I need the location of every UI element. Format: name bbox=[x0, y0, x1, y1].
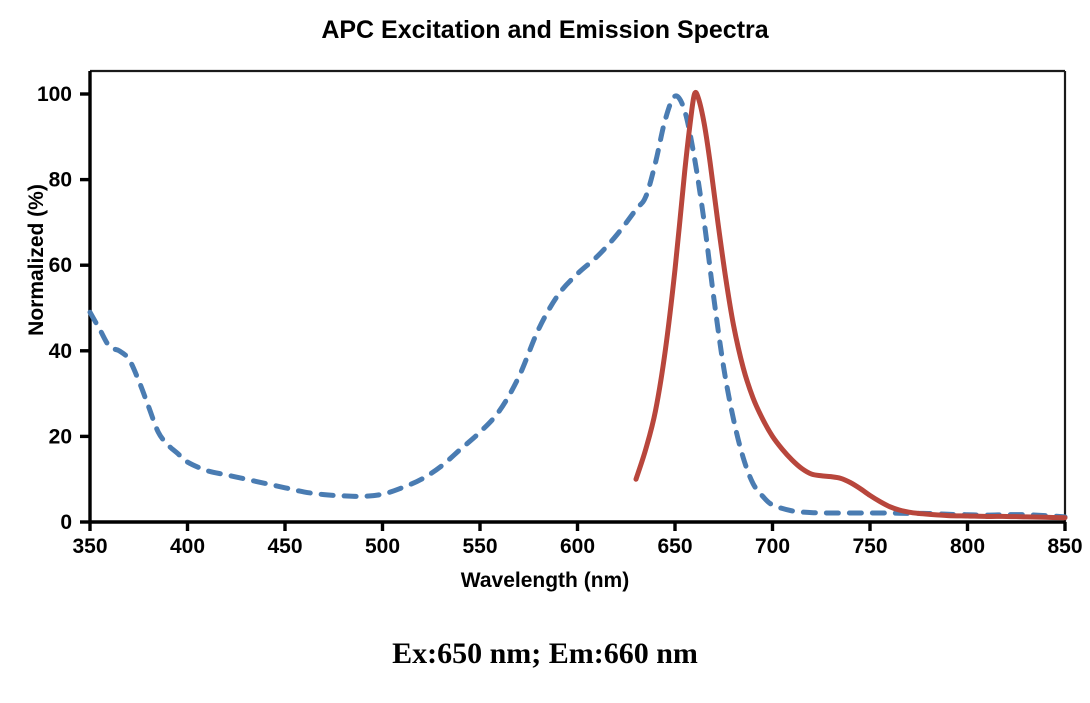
spectra-figure: APC Excitation and Emission Spectra 3504… bbox=[0, 0, 1090, 703]
emission-curve bbox=[636, 92, 1065, 517]
y-tick-label: 0 bbox=[60, 511, 72, 534]
x-tick-label: 500 bbox=[365, 535, 400, 558]
x-tick-label: 650 bbox=[657, 535, 692, 558]
axes-group bbox=[90, 71, 1065, 522]
y-tick-label: 60 bbox=[49, 254, 72, 277]
x-tick-label: 350 bbox=[72, 535, 107, 558]
x-ticks-group: 350400450500550600650700750800850 bbox=[72, 522, 1082, 558]
series-group bbox=[90, 92, 1065, 517]
x-tick-label: 600 bbox=[560, 535, 595, 558]
excitation-curve bbox=[90, 96, 1065, 517]
y-tick-label: 20 bbox=[49, 425, 72, 448]
x-tick-label: 550 bbox=[462, 535, 497, 558]
x-axis-label: Wavelength (nm) bbox=[0, 569, 1090, 593]
x-tick-label: 400 bbox=[170, 535, 205, 558]
y-tick-label: 100 bbox=[37, 83, 72, 106]
x-tick-label: 450 bbox=[267, 535, 302, 558]
y-tick-label: 80 bbox=[49, 169, 72, 192]
x-tick-label: 850 bbox=[1047, 535, 1082, 558]
x-tick-label: 700 bbox=[755, 535, 790, 558]
x-tick-label: 750 bbox=[852, 535, 887, 558]
x-tick-label: 800 bbox=[950, 535, 985, 558]
plot-area: 350400450500550600650700750800850 020406… bbox=[0, 0, 1090, 703]
figure-caption: Ex:650 nm; Em:660 nm bbox=[0, 637, 1090, 671]
y-tick-label: 40 bbox=[49, 340, 72, 363]
y-axis-label: Normalized (%) bbox=[25, 130, 49, 390]
